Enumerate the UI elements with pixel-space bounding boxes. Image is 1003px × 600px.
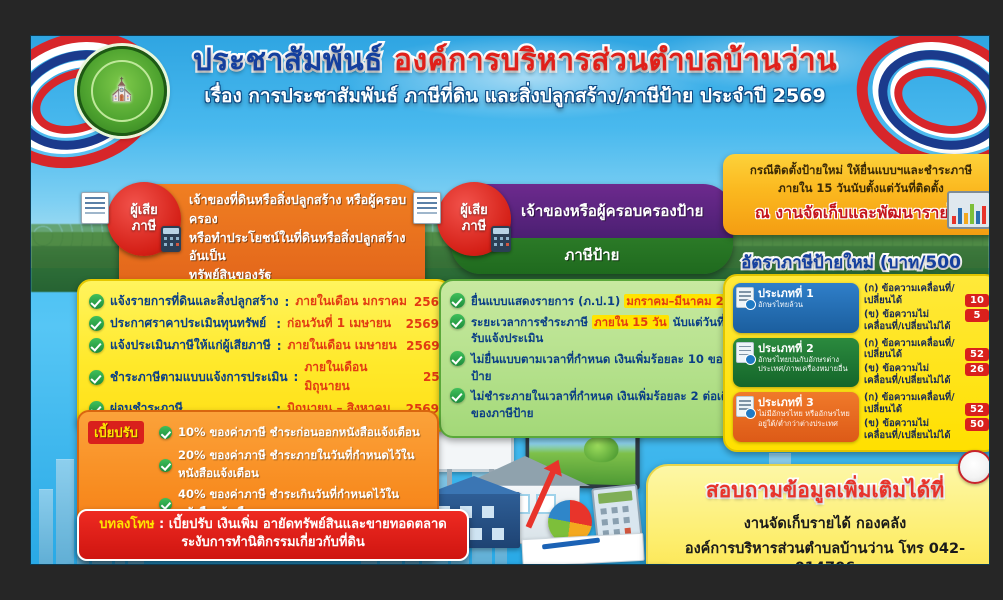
category-name: ประเภทที่ 2 [758,342,854,355]
land-badge-line-1: ผู้เสีย [130,203,158,219]
calculator-icon-signboard [491,226,511,252]
category-description: ไม่มีอักษรไทย หรืออักษรไทยอยู่ใต้/ต่ำกว่… [758,409,854,429]
list-item: ไม่ชำระภายในเวลาที่กำหนด เงินเพิ่มร้อยละ… [450,388,750,421]
punishment-line-1: บทลงโทษ : เบี้ยปรับ เงินเพิ่ม อายัดทรัพย… [89,516,457,534]
list-item: 20% ของค่าภาษี ชำระภายในวันที่กำหนดไว้ใน… [79,447,429,483]
check-icon [89,370,104,385]
rule-text: ไม่ยื่นแบบตามเวลาที่กำหนด เงินเพิ่มร้อยล… [471,351,750,384]
clipboard-check-icon [736,342,754,363]
check-icon [89,338,104,353]
schedule-period: ภายในเดือน มกราคม [295,292,407,311]
schedule-period: ภายในเดือน มิถุนายน [304,358,416,396]
punishment-bar: บทลงโทษ : เบี้ยปรับ เงินเพิ่ม อายัดทรัพย… [77,509,469,561]
schedule-label: ประกาศราคาประเมินทุนทรัพย์ [110,314,270,333]
rate-option-label: (ข) ข้อความไม่เคลื่อนที่/เปลี่ยนไม่ได้ [864,363,960,387]
rate-option-label: (ก) ข้อความเคลื่อนที่/เปลี่ยนได้ [864,392,960,416]
check-icon [450,351,465,366]
poster-header: ⛪ ประชาสัมพันธ์ องค์การบริหารส่วนตำบลบ้า… [31,36,989,142]
list-item: ประกาศราคาประเมินทุนทรัพย์ : ก่อนวันที่ … [89,314,439,333]
document-icon-signboard [413,192,441,224]
category-description: อักษรไทยปนกับอักษรต่างประเทศ/ภาพเครื่องห… [758,355,854,375]
check-icon [450,314,465,329]
paper-document-graphic [521,533,644,564]
list-item: ไม่ยื่นแบบตามเวลาที่กำหนด เงินเพิ่มร้อยล… [450,351,750,384]
list-item: แจ้งประเมินภาษีให้แก่ผู้เสียภาษี : ภายใน… [89,336,439,355]
check-icon [450,293,465,308]
temple-glyph-icon: ⛪ [108,80,135,102]
thai-flag-ribbon-right [843,36,989,156]
official-seal-icon [958,450,989,484]
schedule-label: แจ้งประเมินภาษีให้แก่ผู้เสียภาษี [110,336,271,355]
rule-pre: ระยะเวลาการชำระภาษี [471,315,592,329]
rule-text: ไม่ชำระภายในเวลาที่กำหนด เงินเพิ่มร้อยละ… [471,388,750,421]
rate-value: 52 [965,403,989,416]
rate-value: 5 [965,309,989,322]
check-icon [159,426,172,439]
punishment-line-2: ระงับการทำนิติกรรมเกี่ยวกับที่ดิน [89,534,457,552]
penalty-text: 20% ของค่าภาษี ชำระภายในวันที่กำหนดไว้ใน… [178,447,429,483]
contact-org-phone: องค์การบริหารส่วนตำบลบ้านว่าน โทร 042-01… [660,537,989,564]
category-name: ประเภทที่ 3 [758,396,854,409]
contact-department: งานจัดเก็บรายได้ กองคลัง [660,512,989,535]
schedule-label: แจ้งรายการที่ดินและสิ่งปลูกสร้าง [110,292,279,311]
penalty-text: 10% ของค่าภาษี ชำระก่อนออกหนังสือแจ้งเตื… [178,424,429,442]
notice-line-1: กรณีติดตั้งป้ายใหม่ ให้ยื่นแบบฯและชำระภา… [733,162,989,180]
list-item: ระยะเวลาการชำระภาษี ภายใน 15 วัน นับแต่ว… [450,314,750,347]
land-badge-line-2: ภาษี [132,219,156,235]
schedule-period: ก่อนวันที่ 1 เมษายน [287,314,399,333]
rule-pre: ยื่นแบบแสดงรายการ (ภ.ป.1) [471,294,624,308]
rate-values: 10 5 [965,283,989,333]
title-block: ประชาสัมพันธ์ องค์การบริหารส่วนตำบลบ้านว… [191,44,839,111]
list-item: เบี้ยปรับ 10% ของค่าภาษี ชำระก่อนออกหนัง… [79,421,429,444]
rate-values: 52 50 [965,392,989,442]
municipality-emblem: ⛪ [77,46,167,136]
rule-highlight: ภายใน 15 วัน [592,315,669,329]
chart-monitor-icon [947,191,989,229]
schedule-period: ภายในเดือน เมษายน [288,336,400,355]
rule-text: ระยะเวลาการชำระภาษี ภายใน 15 วัน นับแต่ว… [471,314,750,347]
rate-option-label: (ก) ข้อความเคลื่อนที่/เปลี่ยนได้ [864,283,960,307]
clipboard-check-icon [736,287,754,308]
land-desc-line-2: หรือทำประโยชน์ในที่ดินหรือสิ่งปลูกสร้างอ… [189,229,413,267]
contact-heading: สอบถามข้อมูลเพิ่มเติมได้ที่ [660,474,989,507]
schedule-separator: : [285,295,290,309]
check-icon [89,316,104,331]
page-subtitle: เรื่อง การประชาสัมพันธ์ ภาษีที่ดิน และสิ… [191,81,839,111]
contact-box[interactable]: สอบถามข้อมูลเพิ่มเติมได้ที่ งานจัดเก็บรา… [646,464,989,564]
schedule-label: ชำระภาษีตามแบบแจ้งการประเมิน [110,368,288,387]
list-item: ชำระภาษีตามแบบแจ้งการประเมิน : ภายในเดือ… [89,358,439,396]
check-icon [89,294,104,309]
punishment-text-1: : เบี้ยปรับ เงินเพิ่ม อายัดทรัพย์สินและข… [155,517,447,532]
rate-option-label: (ก) ข้อความเคลื่อนที่/เปลี่ยนได้ [864,338,960,362]
rate-category-1: ประเภทที่ 1 อักษรไทยล้วน [733,283,859,333]
rule-text: ยื่นแบบแสดงรายการ (ภ.ป.1) มกราคม–มีนาคม … [471,293,750,310]
table-row: ประเภทที่ 2 อักษรไทยปนกับอักษรต่างประเทศ… [733,338,989,388]
schedule-separator: : [294,370,299,384]
rate-option-label: (ข) ข้อความไม่เคลื่อนที่/เปลี่ยนไม่ได้ [864,418,960,442]
rate-category-3: ประเภทที่ 3 ไม่มีอักษรไทย หรืออักษรไทยอย… [733,392,859,442]
rate-value: 10 [965,294,989,307]
title-part-1: ประชาสัมพันธ์ [193,43,394,78]
fine-tag-wrapper: เบี้ยปรับ [79,421,153,444]
rate-options: (ก) ข้อความเคลื่อนที่/เปลี่ยนได้ (ข) ข้อ… [864,338,960,388]
title-part-2: องค์การบริหารส่วนตำบลบ้านว่าน [394,43,837,78]
category-description: อักษรไทยล้วน [758,300,854,310]
rate-values: 52 26 [965,338,989,388]
signboard-badge-line-1: ผู้เสีย [460,203,488,219]
fine-tag: เบี้ยปรับ [88,421,144,444]
rate-options: (ก) ข้อความเคลื่อนที่/เปลี่ยนได้ (ข) ข้อ… [864,283,960,333]
list-item: แจ้งรายการที่ดินและสิ่งปลูกสร้าง : ภายใน… [89,292,439,311]
poster-canvas: ⛪ ประชาสัมพันธ์ องค์การบริหารส่วนตำบลบ้า… [31,36,989,564]
table-row: ประเภทที่ 3 ไม่มีอักษรไทย หรืออักษรไทยอย… [733,392,989,442]
document-icon-land [81,192,109,224]
schedule-separator: : [276,317,281,331]
schedule-separator: : [277,339,282,353]
rate-category-2: ประเภทที่ 2 อักษรไทยปนกับอักษรต่างประเทศ… [733,338,859,388]
emblem-inner-ring: ⛪ [91,60,153,122]
page-title: ประชาสัมพันธ์ องค์การบริหารส่วนตำบลบ้านว… [191,44,839,77]
category-name: ประเภทที่ 1 [758,287,854,300]
check-icon [159,459,172,472]
schedule-year: 2569 [406,339,440,353]
list-item: ยื่นแบบแสดงรายการ (ภ.ป.1) มกราคม–มีนาคม … [450,293,750,310]
schedule-year: 2569 [405,317,439,331]
rate-options: (ก) ข้อความเคลื่อนที่/เปลี่ยนได้ (ข) ข้อ… [864,392,960,442]
signboard-tax-rules-list: ยื่นแบบแสดงรายการ (ภ.ป.1) มกราคม–มีนาคม … [439,279,761,438]
rate-value: 50 [965,418,989,431]
punishment-tag: บทลงโทษ [99,517,154,532]
calculator-icon-land [161,226,181,252]
rate-value: 26 [965,363,989,376]
check-icon [450,388,465,403]
rate-value: 52 [965,348,989,361]
table-row: ประเภทที่ 1 อักษรไทยล้วน (ก) ข้อความเคลื… [733,283,989,333]
land-desc-line-1: เจ้าของที่ดินหรือสิ่งปลูกสร้าง หรือผู้คร… [189,191,413,229]
monitor-bars [952,202,986,224]
signboard-rate-table: ประเภทที่ 1 อักษรไทยล้วน (ก) ข้อความเคลื… [723,274,989,452]
clipboard-check-icon [736,396,754,417]
rate-option-label: (ข) ข้อความไม่เคลื่อนที่/เปลี่ยนไม่ได้ [864,309,960,333]
new-signboard-notice: กรณีติดตั้งป้ายใหม่ ให้ยื่นแบบฯและชำระภา… [723,154,989,235]
signboard-badge-line-2: ภาษี [462,219,486,235]
